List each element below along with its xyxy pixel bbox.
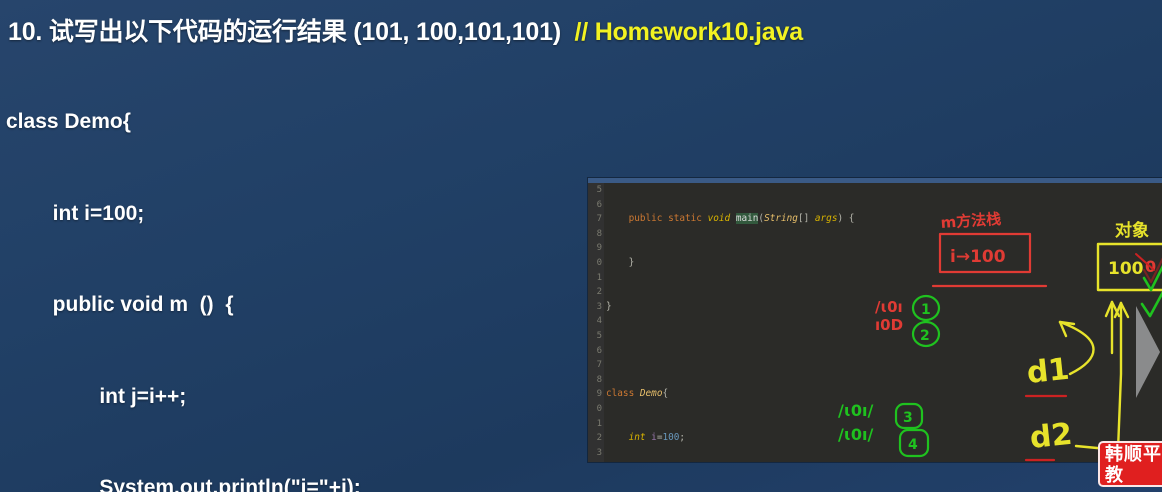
code-line: System.out.println("i="+i); <box>6 473 426 492</box>
watermark-line-2: 教 育 <box>1105 465 1162 487</box>
line-number: 2 <box>588 285 602 300</box>
ide-code-line: } <box>606 300 888 315</box>
title-question: 试写出以下代码的运行结果 <box>49 18 347 46</box>
ide-code-text: public static void main(String[] args) {… <box>606 183 888 462</box>
code-line: public void m () { <box>6 290 426 321</box>
line-number: 2 <box>588 431 602 446</box>
embedded-ide-screenshot: 5 6 7 8 9 0 1 2 3 4 5 6 7 8 9 0 1 2 3 4 … <box>588 178 1162 462</box>
ide-code-line: class Demo{ <box>606 387 888 402</box>
ide-code-line: public static void main(String[] args) { <box>606 212 888 227</box>
line-number: 3 <box>588 300 602 315</box>
line-number: 9 <box>588 387 602 402</box>
line-number: 1 <box>588 417 602 432</box>
line-number: 3 <box>588 446 602 461</box>
code-line: class Demo{ <box>6 107 426 138</box>
code-line: int i=100; <box>6 199 426 230</box>
next-slide-chevron-icon[interactable] <box>1134 300 1162 404</box>
watermark-logo: 韩顺平 教 育 <box>1098 441 1162 487</box>
line-number: 7 <box>588 358 602 373</box>
title-number: 10. <box>8 18 42 46</box>
title-answer: (101, 100,101,101) <box>353 18 561 46</box>
slide-code-block: class Demo{ int i=100; public void m () … <box>6 46 426 492</box>
code-line: int j=i++; <box>6 382 426 413</box>
ide-code-line: int i=100; <box>606 431 888 446</box>
title-file-comment: // Homework10.java <box>574 18 802 46</box>
page-title: 10. 试写出以下代码的运行结果 (101, 100,101,101) // H… <box>8 12 803 48</box>
line-number: 4 <box>588 460 602 462</box>
slide-canvas: 10. 试写出以下代码的运行结果 (101, 100,101,101) // H… <box>0 0 1162 492</box>
line-number: 9 <box>588 241 602 256</box>
line-number: 6 <box>588 198 602 213</box>
ide-code-line <box>606 344 888 359</box>
ide-code-line: } <box>606 256 888 271</box>
ide-line-number-gutter: 5 6 7 8 9 0 1 2 3 4 5 6 7 8 9 0 1 2 3 4 … <box>588 183 604 462</box>
line-number: 7 <box>588 212 602 227</box>
line-number: 1 <box>588 271 602 286</box>
line-number: 8 <box>588 227 602 242</box>
line-number: 0 <box>588 256 602 271</box>
line-number: 6 <box>588 344 602 359</box>
line-number: 4 <box>588 314 602 329</box>
line-number: 0 <box>588 402 602 417</box>
line-number: 8 <box>588 373 602 388</box>
watermark-line-1: 韩顺平 <box>1105 444 1162 465</box>
line-number: 5 <box>588 329 602 344</box>
line-number: 5 <box>588 183 602 198</box>
